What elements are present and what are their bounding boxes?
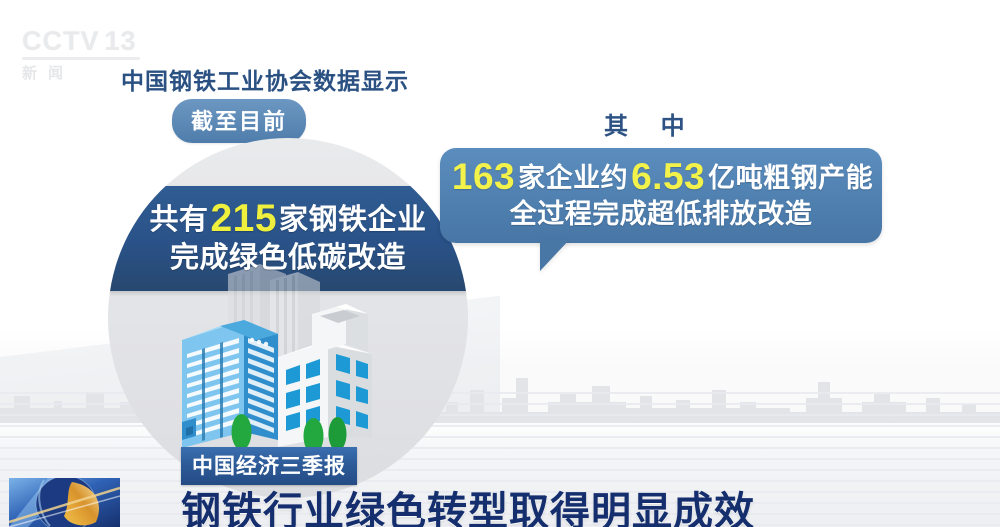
cctv-logo-underline <box>22 57 140 60</box>
data-source-line: 中国钢铁工业协会数据显示 <box>121 62 409 96</box>
right-stat-bubble-tail <box>540 239 570 271</box>
as-of-now-badge: 截至目前 <box>172 99 306 143</box>
right-stat-bubble <box>440 148 882 243</box>
headline-text: 钢铁行业绿色转型取得明显成效 <box>181 479 755 527</box>
cctv-logo-word: CCTV <box>22 26 100 56</box>
broadcast-graphic-frame: CCTV13 新闻 中国钢铁工业协会数据显示 截至目前 <box>0 0 1000 527</box>
cctv-logo-text: CCTV13 <box>22 26 162 56</box>
cctv-logo-number: 13 <box>100 26 137 56</box>
right-stat-eyebrow: 其 中 <box>604 106 698 141</box>
office-buildings-illustration <box>160 262 410 462</box>
news-globe-icon <box>0 478 120 527</box>
